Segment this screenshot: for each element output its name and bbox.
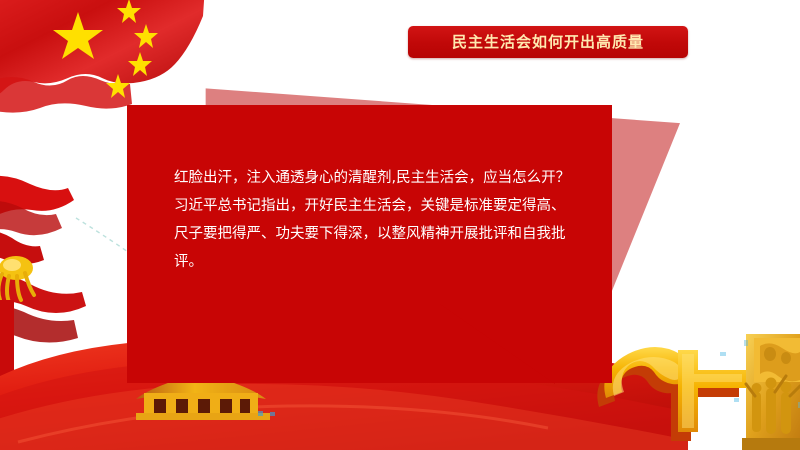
red-edge-bar: [0, 300, 14, 400]
body-text-line: 评。: [174, 248, 594, 276]
body-text-line: 尺子要把得严、功夫要下得深，以整风精神开展批评和自我批: [174, 220, 594, 248]
golden-monument-icon: [742, 330, 800, 450]
slide-canvas: 红脸出汗，注入通透身心的清醒剂,民主生活会，应当怎么开？ 习近平总书记指出，开好…: [0, 0, 800, 450]
body-text-line: 习近平总书记指出，开好民主生活会，关键是标准要定得高、: [174, 192, 594, 220]
party-emblem-icon: [588, 332, 763, 444]
title-text: 民主生活会如何开出高质量: [452, 35, 644, 50]
speech-bubble-tail: [440, 304, 555, 384]
body-text: 红脸出汗，注入通透身心的清醒剂,民主生活会，应当怎么开？ 习近平总书记指出，开好…: [174, 164, 594, 276]
title-banner: 民主生活会如何开出高质量: [408, 26, 688, 58]
body-text-line: 红脸出汗，注入通透身心的清醒剂,民主生活会，应当怎么开？: [174, 164, 594, 192]
red-ribbon-icon: [0, 170, 142, 345]
